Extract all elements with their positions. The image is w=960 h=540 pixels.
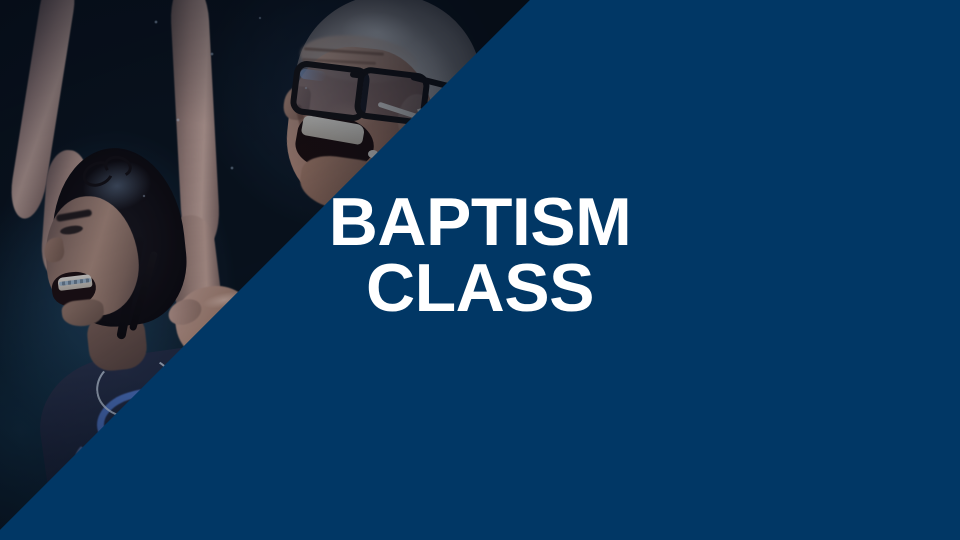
page-title: BAPTISM CLASS [250,190,710,322]
promo-graphic: BAPTISM CLASS [0,0,960,540]
title-line-2: CLASS [250,256,710,322]
title-line-1: BAPTISM [250,190,710,256]
